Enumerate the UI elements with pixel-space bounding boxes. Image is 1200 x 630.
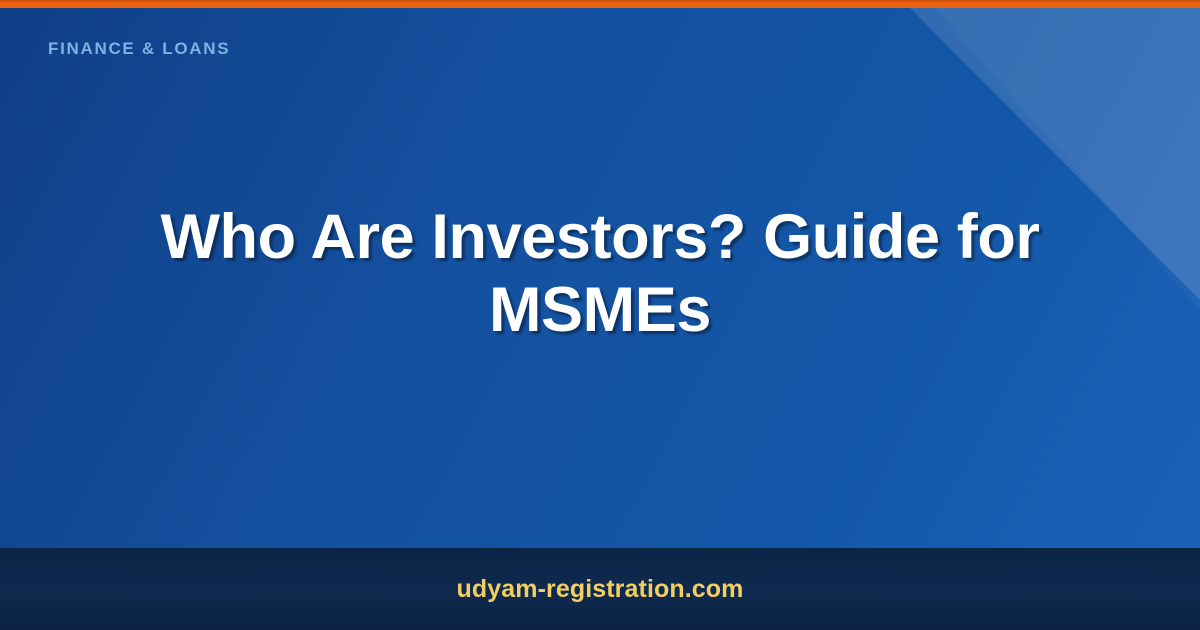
hero-banner: FINANCE & LOANS Who Are Investors? Guide… (0, 8, 1200, 548)
category-label: FINANCE & LOANS (48, 39, 230, 59)
page-title: Who Are Investors? Guide for MSMEs (95, 201, 1105, 355)
headline-container: Who Are Investors? Guide for MSMEs (0, 8, 1200, 548)
site-domain: udyam-registration.com (457, 575, 744, 604)
footer-bar: udyam-registration.com (0, 548, 1200, 630)
social-share-card: FINANCE & LOANS Who Are Investors? Guide… (0, 0, 1200, 630)
accent-top-bar (0, 0, 1200, 8)
